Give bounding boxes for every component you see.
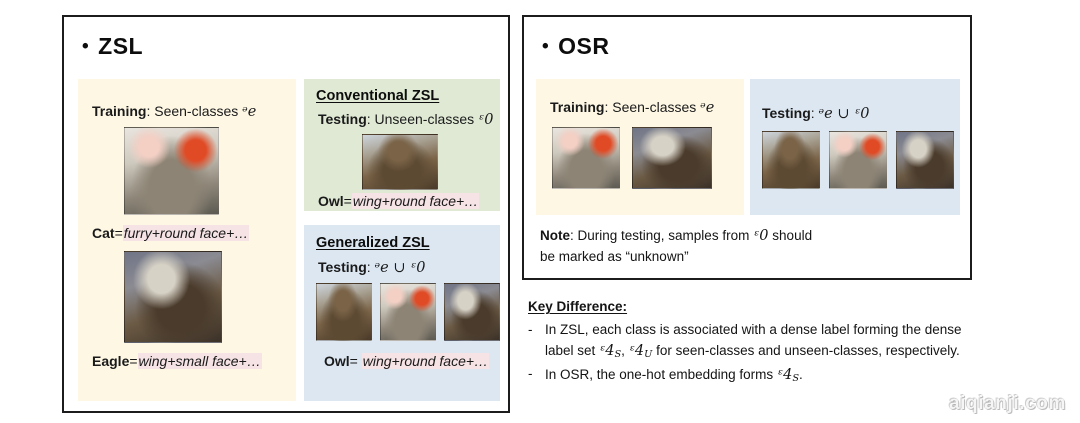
cat-photo: [552, 127, 620, 189]
osr-training-label-bold: Training: [550, 99, 604, 115]
unseen-classes-symbol: ᵋ0: [478, 112, 493, 128]
zsl-training-label-bold: Training: [92, 103, 146, 119]
eagle-name: Eagle: [92, 353, 129, 369]
generalized-zsl-title: Generalized ZSL: [316, 235, 430, 251]
cat-name: Cat: [92, 225, 115, 241]
kd-zsl-text-b: for seen-classes and unseen-classes, res…: [656, 343, 960, 358]
osr-testing-label-bold: Testing: [762, 105, 811, 121]
label-set-s-symbol: ᵋ4: [599, 343, 614, 359]
kd-osr-text-b: .: [799, 367, 803, 382]
eagle-photo: [896, 131, 954, 189]
osr-note-line-1a: : During testing, samples from: [570, 228, 749, 243]
owl-photo: [362, 134, 438, 190]
owl-attributes: wing+round face+…: [352, 193, 479, 209]
generalized-testing-bold: Testing: [318, 259, 367, 275]
key-difference-title-text: Key Difference: [528, 299, 623, 314]
seen-classes-symbol: ᵊe: [242, 104, 256, 120]
key-difference-title: Key Difference:: [528, 297, 968, 318]
zsl-heading-label: ZSL: [98, 33, 143, 59]
list-dash: -: [528, 364, 536, 387]
label-set-s-symbol: ᵋ4: [777, 367, 792, 383]
eagle-photo: [444, 283, 500, 341]
cat-photo: [829, 131, 887, 189]
kd-osr-text-a: In OSR, the one-hot embedding forms: [545, 367, 773, 382]
bullet-icon: •: [542, 36, 549, 58]
osr-training-box: Training: Seen-classes ᵊe: [536, 79, 744, 215]
label-set-s-subscript: S: [792, 373, 799, 384]
bullet-icon: •: [82, 36, 89, 58]
osr-testing-thumb-row: [762, 131, 954, 189]
key-difference-item-zsl-text: In ZSL, each class is associated with a …: [545, 320, 968, 363]
generalized-zsl-box: Generalized ZSL Testing: ᵊe ∪ ᵋ0 Owl= wi…: [304, 225, 500, 401]
osr-note-line-1: Note: During testing, samples from ᵋ0 sh…: [540, 225, 960, 247]
kd-zsl-comma: ,: [621, 343, 625, 358]
eagle-photo: [124, 251, 222, 343]
key-difference-item-zsl: - In ZSL, each class is associated with …: [528, 320, 968, 363]
key-difference-title-colon: :: [623, 299, 628, 314]
cat-equals: =: [115, 225, 123, 241]
osr-panel: •OSR Training: Seen-classes ᵊe Testing: …: [522, 15, 972, 280]
osr-note-line-2: be marked as “unknown”: [540, 247, 960, 268]
seen-classes-symbol: ᵊe: [700, 100, 714, 116]
osr-note: Note: During testing, samples from ᵋ0 sh…: [540, 225, 960, 268]
seen-union-unseen-symbol: ᵊe ∪ ᵋ0: [819, 106, 870, 122]
generalized-testing-rest: :: [367, 259, 371, 275]
generalized-owl-attribute-line: Owl= wing+round face+…: [324, 353, 489, 369]
generalized-thumb-row: [316, 283, 500, 341]
osr-training-label: Training: Seen-classes ᵊe: [550, 99, 714, 116]
generalized-owl-name: Owl: [324, 353, 350, 369]
unseen-classes-symbol: ᵋ0: [753, 228, 768, 244]
owl-name: Owl: [318, 193, 344, 209]
conventional-zsl-title: Conventional ZSL: [316, 88, 439, 104]
osr-training-thumb-row: [552, 127, 712, 189]
eagle-attribute-line: Eagle=wing+small face+…: [92, 353, 262, 369]
key-difference-block: Key Difference: - In ZSL, each class is …: [528, 297, 968, 387]
cat-photo: [124, 127, 219, 215]
osr-heading: •OSR: [542, 33, 610, 60]
zsl-panel: •ZSL Training: Seen-classes ᵊe Cat=furry…: [62, 15, 510, 413]
osr-note-line-1b: should: [772, 228, 812, 243]
watermark: aiqianji.com: [949, 393, 1066, 415]
osr-training-label-rest: : Seen-classes: [604, 99, 696, 115]
owl-photo: [762, 131, 820, 189]
generalized-testing-label: Testing: ᵊe ∪ ᵋ0: [318, 259, 426, 276]
conventional-zsl-box: Conventional ZSL Testing: Unseen-classes…: [304, 79, 500, 211]
osr-testing-box: Testing: ᵊe ∪ ᵋ0: [750, 79, 960, 215]
osr-testing-label: Testing: ᵊe ∪ ᵋ0: [762, 105, 870, 122]
osr-testing-label-rest: :: [811, 105, 815, 121]
label-set-u-symbol: ᵋ4: [629, 343, 644, 359]
zsl-training-label: Training: Seen-classes ᵊe: [92, 103, 256, 120]
list-dash: -: [528, 320, 536, 363]
cat-photo: [380, 283, 436, 341]
zsl-training-box: Training: Seen-classes ᵊe Cat=furry+roun…: [78, 79, 296, 401]
cat-attributes: furry+round face+…: [123, 225, 250, 241]
conventional-testing-label: Testing: Unseen-classes ᵋ0: [318, 111, 493, 128]
owl-photo: [316, 283, 372, 341]
label-set-u-subscript: U: [644, 349, 652, 360]
zsl-training-label-rest: : Seen-classes: [146, 103, 238, 119]
osr-heading-label: OSR: [558, 33, 609, 59]
eagle-photo: [632, 127, 712, 189]
eagle-attributes: wing+small face+…: [138, 353, 262, 369]
key-difference-item-osr-text: In OSR, the one-hot embedding forms ᵋ4S.: [545, 364, 968, 387]
generalized-owl-equals: =: [350, 353, 358, 369]
eagle-equals: =: [129, 353, 137, 369]
conventional-testing-bold: Testing: [318, 111, 367, 127]
conventional-testing-rest: : Unseen-classes: [367, 111, 474, 127]
generalized-owl-attributes: wing+round face+…: [362, 353, 489, 369]
cat-attribute-line: Cat=furry+round face+…: [92, 225, 249, 241]
owl-attribute-line: Owl=wing+round face+…: [318, 193, 479, 209]
seen-union-unseen-symbol: ᵊe ∪ ᵋ0: [375, 260, 426, 276]
osr-note-label: Note: [540, 228, 570, 243]
owl-equals: =: [344, 193, 352, 209]
key-difference-item-osr: - In OSR, the one-hot embedding forms ᵋ4…: [528, 364, 968, 387]
zsl-heading: •ZSL: [82, 33, 143, 60]
